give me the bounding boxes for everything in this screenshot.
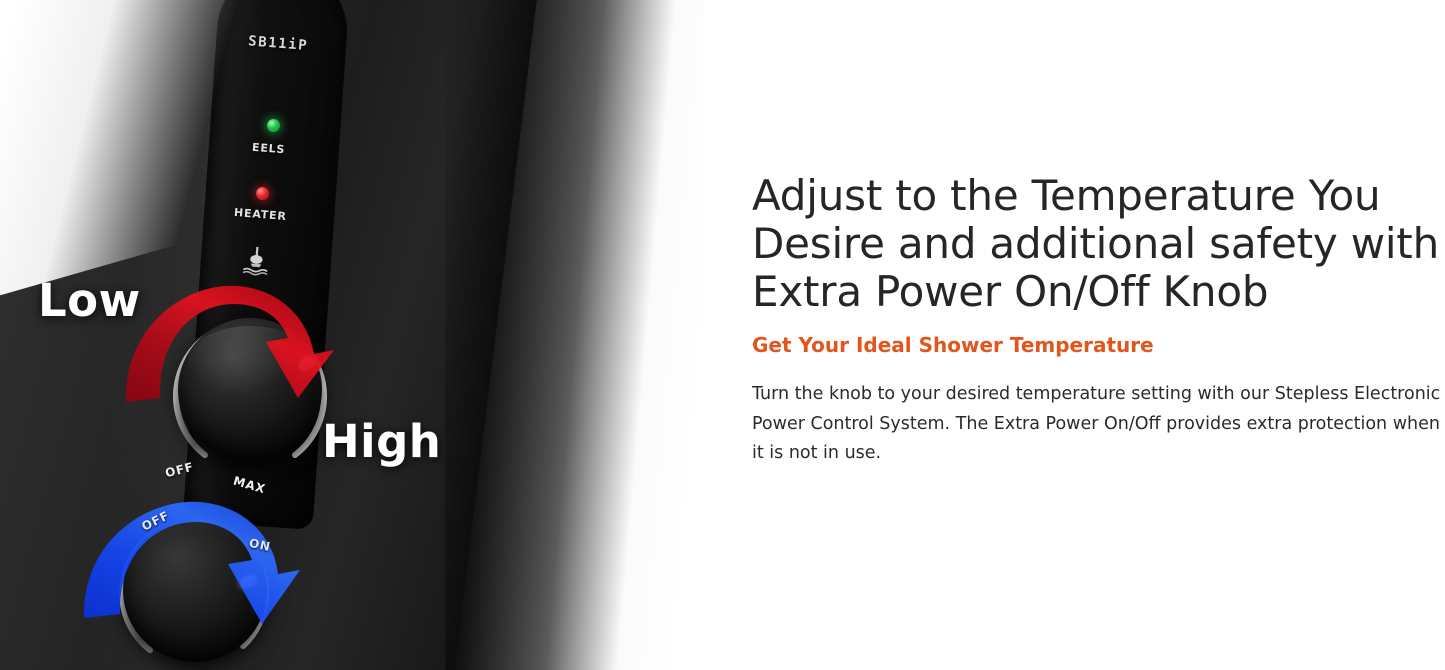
callout-low-label: Low: [38, 274, 141, 327]
shower-head-icon: [239, 245, 275, 278]
feature-section: SB11iP EELS HEATER: [0, 0, 1445, 670]
temperature-rotation-arrow-icon: [110, 276, 340, 411]
feature-headline: Adjust to the Temperature You Desire and…: [752, 172, 1442, 316]
product-image: SB11iP EELS HEATER: [0, 0, 705, 670]
feature-subheadline: Get Your Ideal Shower Temperature: [752, 331, 1442, 359]
feature-body-text: Turn the knob to your desired temperatur…: [752, 380, 1445, 469]
copy-column: Adjust to the Temperature You Desire and…: [752, 0, 1445, 670]
power-rotation-arrow-icon: [62, 494, 302, 634]
callout-high-label: High: [322, 415, 441, 468]
